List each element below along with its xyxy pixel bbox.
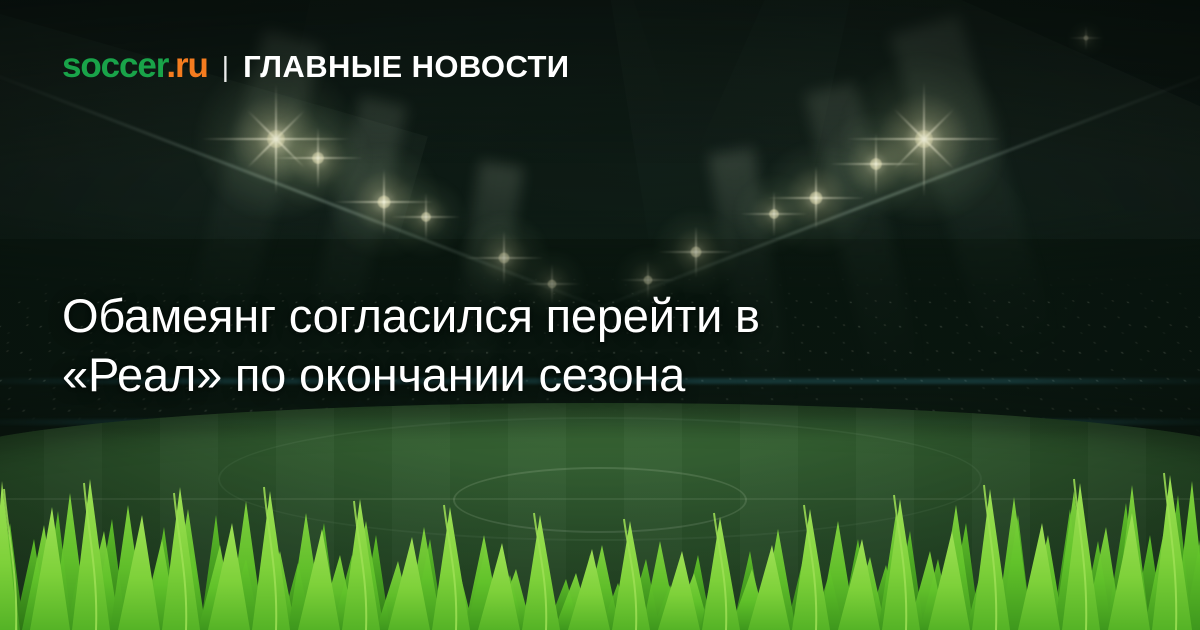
header-divider: |	[222, 53, 229, 81]
logo-brand-text: soccer	[62, 46, 166, 85]
news-card: soccer.ru | ГЛАВНЫЕ НОВОСТИ Обамеянг сог…	[0, 0, 1200, 630]
headline-line-1: Обамеянг согласился перейти в	[62, 286, 1022, 345]
soccer-ru-logo[interactable]: soccer.ru	[62, 48, 208, 83]
logo-tld-text: .ru	[166, 46, 207, 85]
foreground-grass	[0, 465, 1200, 630]
site-header: soccer.ru | ГЛАВНЫЕ НОВОСТИ	[62, 48, 569, 83]
headline-line-2: «Реал» по окончании сезона	[62, 345, 1022, 404]
page-title: Обамеянг согласился перейти в «Реал» по …	[62, 286, 1022, 404]
header-kicker: ГЛАВНЫЕ НОВОСТИ	[243, 51, 569, 82]
